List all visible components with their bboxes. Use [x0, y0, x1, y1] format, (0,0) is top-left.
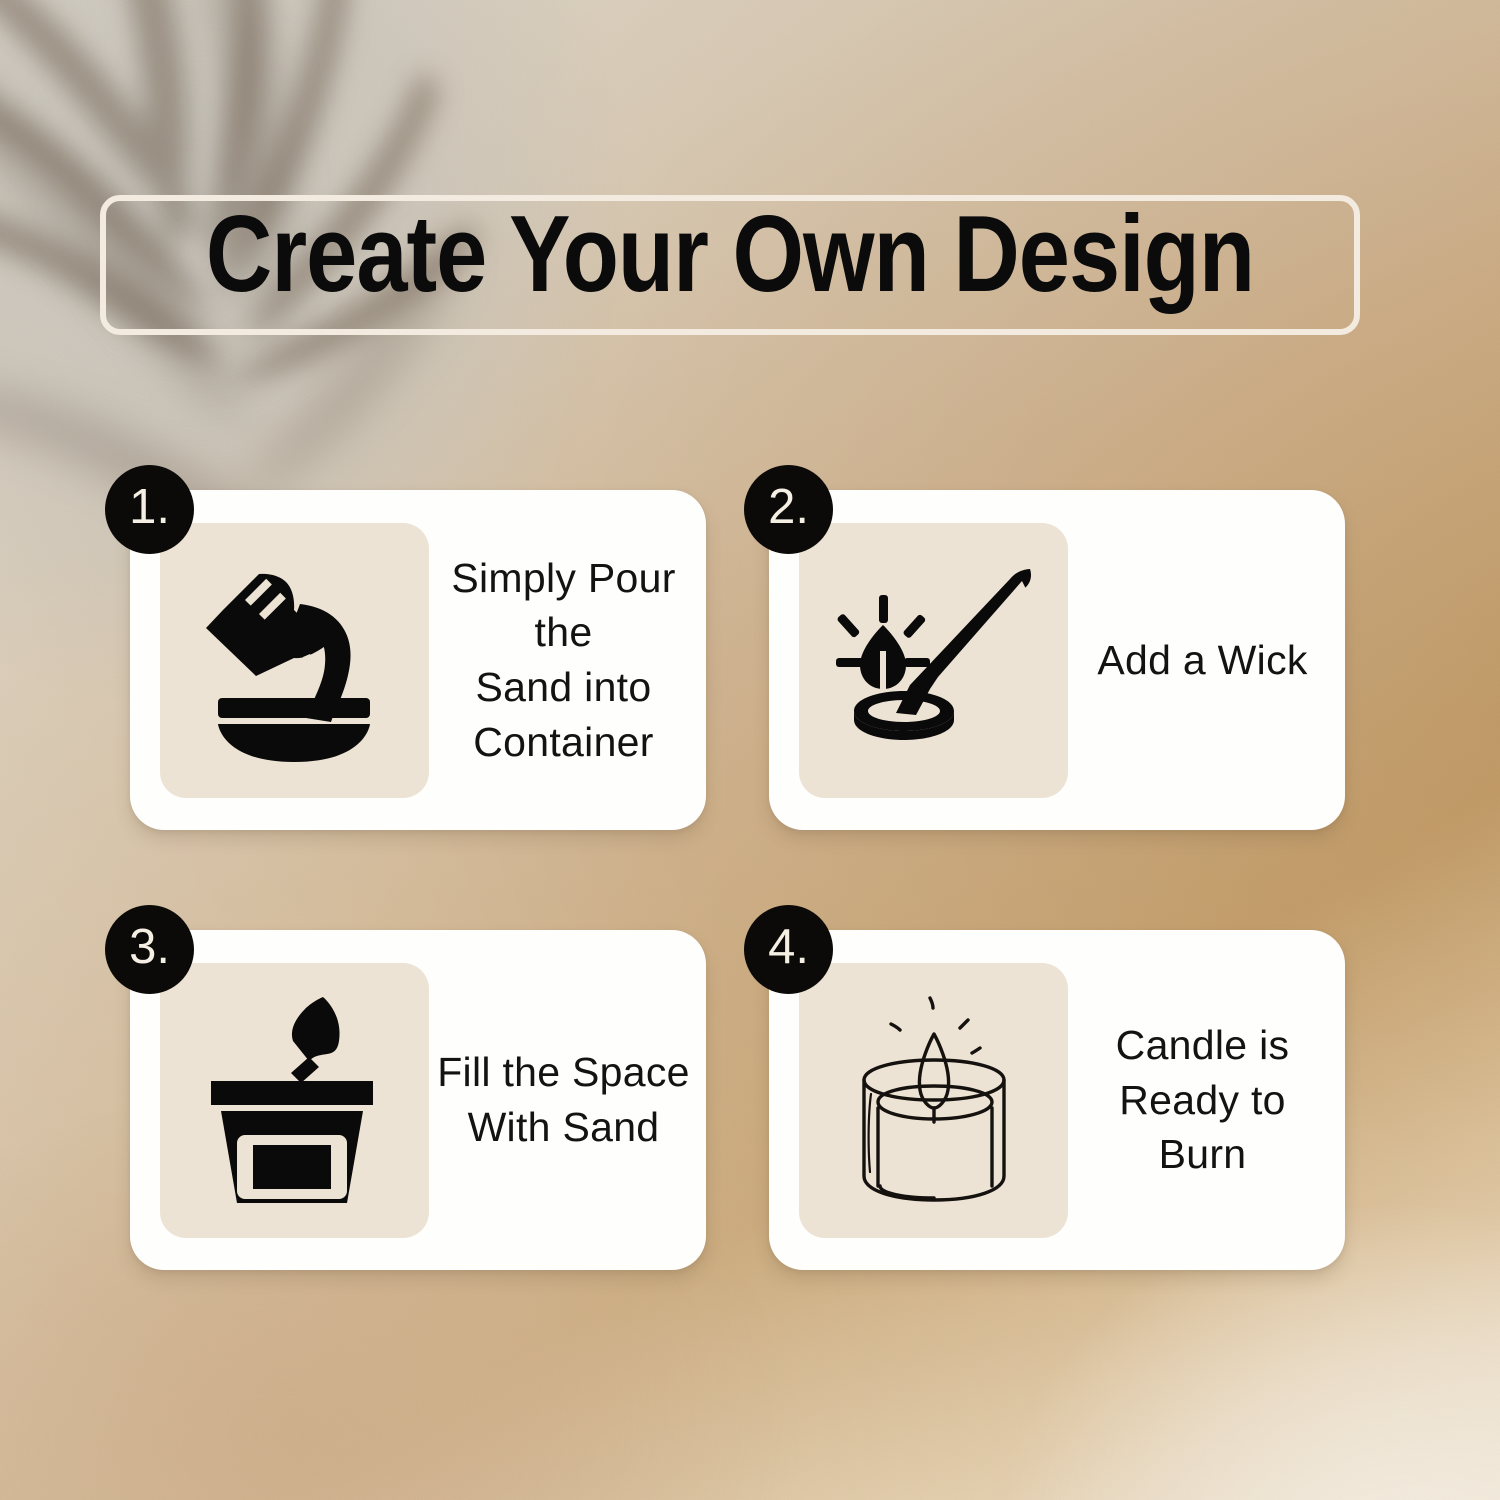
step-card-2[interactable]: 2. [769, 490, 1345, 830]
tweezers-placing-wick-icon [834, 565, 1034, 755]
step-badge-4: 4. [744, 905, 833, 994]
step-icon-tile-1 [160, 523, 429, 798]
step-badge-1: 1. [105, 465, 194, 554]
poster-canvas: Create Your Own Design 1. [0, 0, 1500, 1500]
trowel-and-bucket-icon [197, 995, 393, 1205]
steps-row-1: 1. [130, 490, 1345, 830]
step-caption-1: Simply Pour the Sand into Container [429, 551, 706, 769]
step-card-1[interactable]: 1. [130, 490, 706, 830]
step-badge-2: 2. [744, 465, 833, 554]
steps-grid: 1. [130, 490, 1345, 1280]
step-icon-tile-4 [799, 963, 1068, 1238]
step-caption-3: Fill the Space With Sand [429, 1045, 706, 1154]
pour-sand-into-bowl-icon [190, 558, 400, 763]
steps-row-2: 3. [130, 930, 1345, 1270]
title-frame: Create Your Own Design [100, 195, 1360, 335]
step-caption-4: Candle is Ready to Burn [1068, 1018, 1345, 1182]
step-icon-tile-2 [799, 523, 1068, 798]
step-badge-3: 3. [105, 905, 194, 994]
step-caption-2: Add a Wick [1068, 633, 1345, 688]
step-card-4[interactable]: 4. [769, 930, 1345, 1270]
page-title: Create Your Own Design [106, 202, 1354, 308]
lit-candle-in-jar-icon [834, 990, 1034, 1210]
step-icon-tile-3 [160, 963, 429, 1238]
step-card-3[interactable]: 3. [130, 930, 706, 1270]
